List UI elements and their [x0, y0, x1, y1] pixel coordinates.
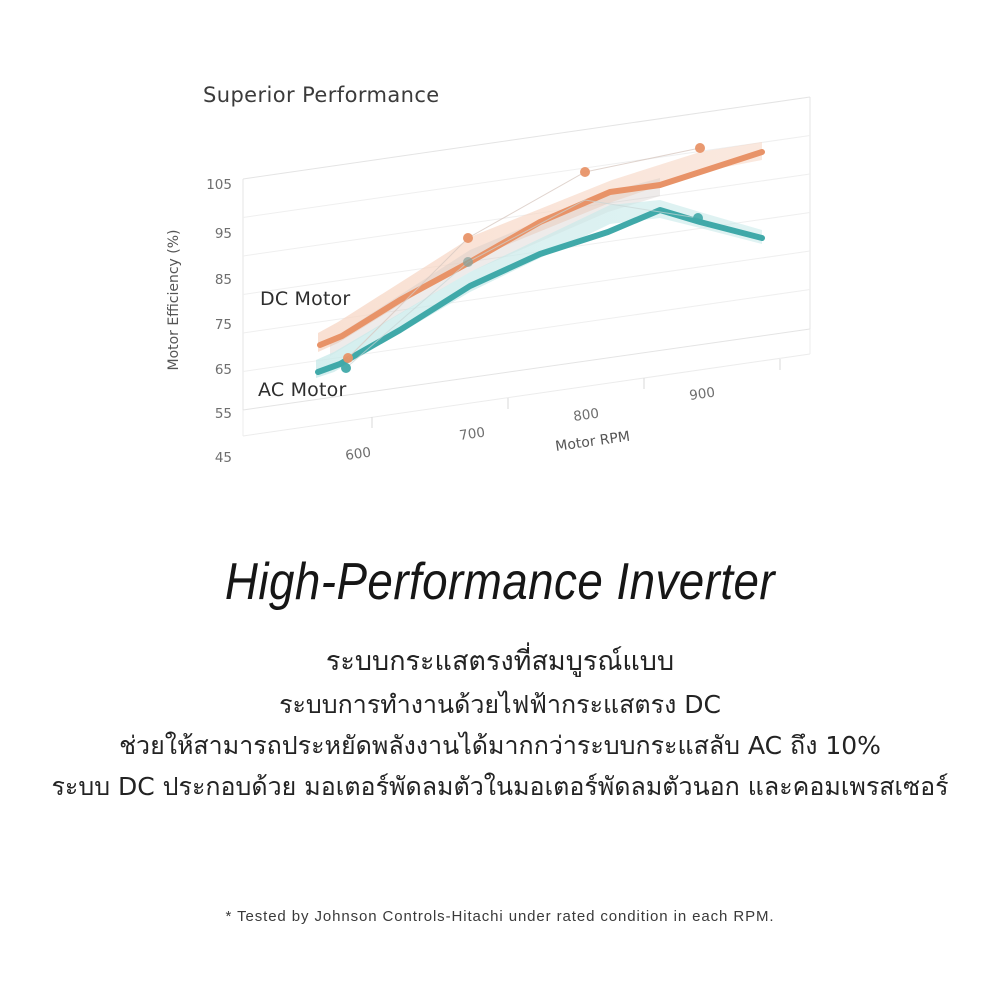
- x-tick-800: 800: [572, 406, 600, 425]
- x-axis-title: Motor RPM: [554, 429, 631, 455]
- x-tick-600: 600: [344, 445, 372, 464]
- chart-container: Superior Performance Motor Efficiency (%…: [0, 0, 1000, 500]
- x-tick-700: 700: [458, 425, 486, 444]
- y-tick-65: 65: [215, 362, 232, 378]
- body-line-1: ระบบกระแสตรงที่สมบูรณ์แบบ: [0, 648, 1000, 675]
- y-tick-105: 105: [206, 177, 232, 193]
- y-tick-75: 75: [215, 317, 232, 333]
- performance-chart: Superior Performance Motor Efficiency (%…: [0, 0, 1000, 500]
- chart-title: Superior Performance: [203, 83, 440, 107]
- body-line-2: ระบบการทำงานด้วยไฟฟ้ากระแสตรง DC: [0, 692, 1000, 717]
- y-axis-title: Motor Efficiency (%): [166, 229, 182, 370]
- y-tick-85: 85: [215, 272, 232, 288]
- body-line-3: ช่วยให้สามารถประหยัดพลังงานได้มากกว่าระบ…: [0, 733, 1000, 758]
- footnote: * Tested by Johnson Controls-Hitachi und…: [0, 908, 1000, 925]
- y-tick-55: 55: [215, 406, 232, 422]
- poster-page: Superior Performance Motor Efficiency (%…: [0, 0, 1000, 1000]
- series-label-ac-motor: AC Motor: [258, 379, 346, 401]
- y-tick-45: 45: [215, 450, 232, 466]
- page-headline: High-Performance Inverter: [60, 552, 940, 612]
- x-tick-900: 900: [688, 385, 716, 404]
- body-line-4: ระบบ DC ประกอบด้วย มอเตอร์พัดลมตัวในมอเต…: [0, 774, 1000, 799]
- y-tick-95: 95: [215, 226, 232, 242]
- body-copy: ระบบกระแสตรงที่สมบูรณ์แบบ ระบบการทำงานด้…: [0, 648, 1000, 799]
- y-axis-tick-labels: 105 95 85 75 65 55 45: [206, 177, 232, 466]
- series-label-dc-motor: DC Motor: [260, 288, 350, 310]
- x-axis-tick-labels: 600 700 800 900: [344, 385, 716, 464]
